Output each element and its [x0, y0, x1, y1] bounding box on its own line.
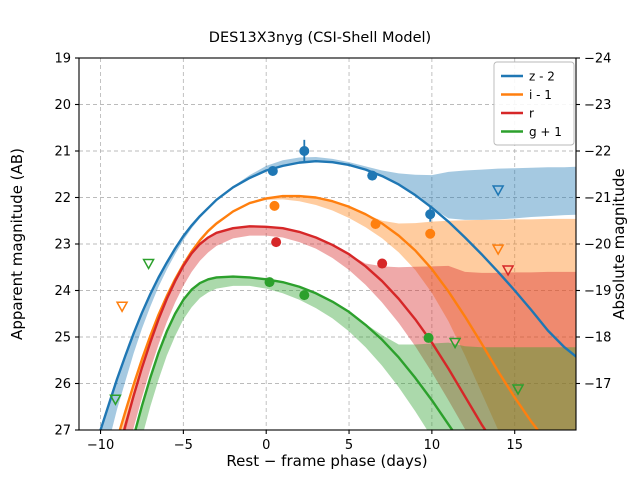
- x-axis-label: Rest − frame phase (days): [226, 452, 427, 470]
- y-tick-label: 23: [54, 238, 71, 253]
- data-point: [299, 146, 309, 156]
- x-tick-label: 15: [506, 438, 523, 453]
- data-point: [299, 290, 309, 300]
- data-point: [265, 277, 275, 287]
- data-point: [271, 237, 281, 247]
- legend-label: i - 1: [529, 88, 552, 102]
- data-point: [424, 333, 434, 343]
- data-point: [268, 166, 278, 176]
- x-tick-label: 10: [424, 438, 441, 453]
- y-tick-label: 22: [54, 191, 71, 206]
- data-point: [367, 171, 377, 181]
- y-tick-label: 21: [54, 145, 71, 160]
- y-tick-label: 20: [54, 98, 71, 113]
- x-tick-label: −5: [174, 438, 193, 453]
- y-tick-label-right: −17: [584, 377, 611, 392]
- data-point: [371, 219, 381, 229]
- y-tick-label: 27: [54, 424, 71, 439]
- x-tick-label: 5: [345, 438, 353, 453]
- y-tick-label-right: −21: [584, 191, 611, 206]
- legend-label: z - 2: [529, 69, 555, 83]
- x-tick-label: −10: [87, 438, 114, 453]
- light-curve-chart: −10−5051015192021222324252627−24−23−22−2…: [0, 0, 640, 480]
- y-tick-label-right: −23: [584, 98, 611, 113]
- y-tick-label: 24: [54, 284, 71, 299]
- y-tick-label-right: −19: [584, 284, 611, 299]
- data-point: [425, 209, 435, 219]
- y-tick-label-right: −24: [584, 52, 611, 67]
- legend[interactable]: z - 2i - 1rg + 1: [494, 62, 574, 145]
- y-tick-label: 26: [54, 377, 71, 392]
- data-point: [425, 229, 435, 239]
- y-tick-label-right: −20: [584, 238, 611, 253]
- figure-canvas: −10−5051015192021222324252627−24−23−22−2…: [0, 0, 640, 480]
- y-tick-label: 19: [54, 52, 71, 67]
- data-point: [377, 259, 387, 269]
- y-tick-label-right: −18: [584, 331, 611, 346]
- y-axis-label: Apparent magnitude (AB): [8, 148, 26, 340]
- chart-title: DES13X3nyg (CSI-Shell Model): [209, 30, 431, 46]
- legend-label: r: [529, 106, 534, 120]
- legend-label: g + 1: [529, 125, 562, 139]
- data-point: [269, 201, 279, 211]
- y-tick-label-right: −22: [584, 145, 611, 160]
- x-tick-label: 0: [262, 438, 270, 453]
- y-tick-label: 25: [54, 331, 71, 346]
- y-axis-label-right: Absolute magnitude: [610, 168, 628, 319]
